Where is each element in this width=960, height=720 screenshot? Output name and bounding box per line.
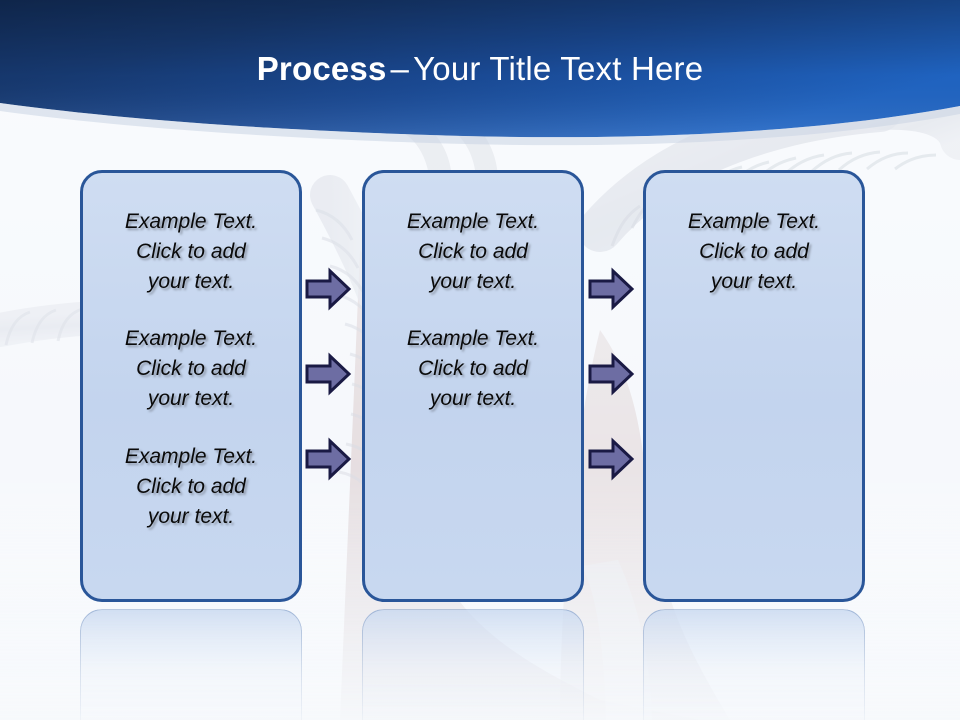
slide-canvas: Process–Your Title Text Here Example Tex… — [0, 0, 960, 720]
right-arrow-icon — [305, 353, 351, 395]
process-box-2-text-2[interactable]: Example Text. Click to add your text. — [384, 324, 562, 413]
process-box-1[interactable]: Example Text. Click to add your text. Ex… — [80, 170, 302, 602]
right-arrow-icon — [305, 438, 351, 480]
right-arrow-icon — [305, 268, 351, 310]
page-title: Process–Your Title Text Here — [0, 50, 960, 88]
process-box-3-text-1[interactable]: Example Text. Click to add your text. — [665, 207, 843, 296]
process-box-3-reflection — [643, 609, 865, 720]
process-box-1-reflection — [80, 609, 302, 720]
process-box-3[interactable]: Example Text. Click to add your text. — [643, 170, 865, 602]
page-title-rest: Your Title Text Here — [413, 50, 703, 87]
process-box-1-text-1[interactable]: Example Text. Click to add your text. — [102, 207, 280, 296]
right-arrow-icon — [588, 268, 634, 310]
page-title-strong: Process — [257, 50, 387, 87]
process-box-2-text-1[interactable]: Example Text. Click to add your text. — [384, 207, 562, 296]
process-box-2[interactable]: Example Text. Click to add your text. Ex… — [362, 170, 584, 602]
right-arrow-icon — [588, 353, 634, 395]
page-title-dash: – — [387, 50, 414, 87]
process-box-2-reflection — [362, 609, 584, 720]
process-box-1-text-2[interactable]: Example Text. Click to add your text. — [102, 324, 280, 413]
process-box-1-text-3[interactable]: Example Text. Click to add your text. — [102, 442, 280, 531]
right-arrow-icon — [588, 438, 634, 480]
